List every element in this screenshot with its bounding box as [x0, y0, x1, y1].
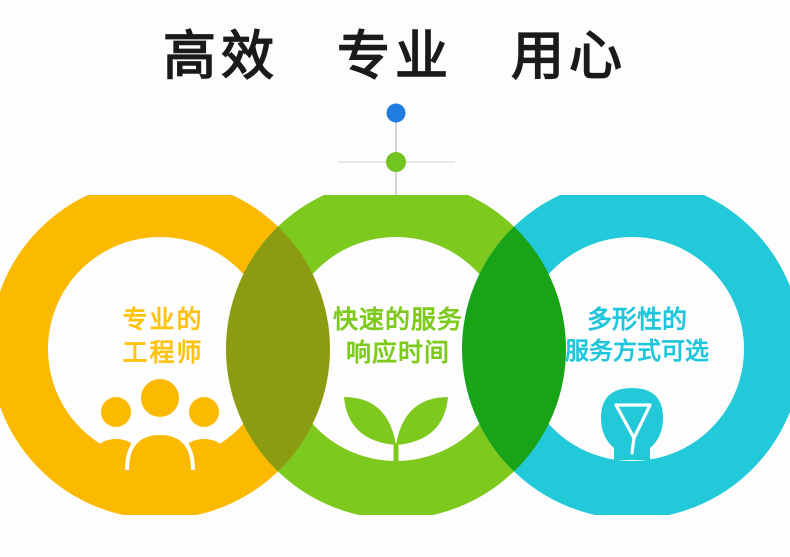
ring-label-professional-engineers: 专业的 工程师: [48, 303, 278, 369]
ring-label-flexible-service-modes: 多形性的 服务方式可选: [512, 303, 762, 368]
title-word-2: 专业: [337, 30, 453, 83]
ring-label-line-2: 服务方式可选: [512, 336, 762, 368]
ring-label-line-1: 专业的: [48, 303, 278, 336]
ring-label-line-1: 多形性的: [512, 303, 762, 336]
title-word-3: 用心: [511, 30, 627, 83]
people-group-icon: [92, 377, 228, 470]
green-dot-icon: [386, 152, 406, 172]
ring-label-line-1: 快速的服务: [283, 303, 513, 336]
page-title: 高效 专业 用心: [0, 30, 790, 83]
poster-canvas: 高效 专业 用心: [0, 0, 790, 557]
ring-label-line-2: 工程师: [48, 336, 278, 369]
blue-dot-icon: [387, 104, 406, 123]
ring-label-line-2: 响应时间: [283, 336, 513, 369]
ring-label-fast-service-response: 快速的服务 响应时间: [283, 303, 513, 369]
title-word-1: 高效: [163, 30, 279, 83]
